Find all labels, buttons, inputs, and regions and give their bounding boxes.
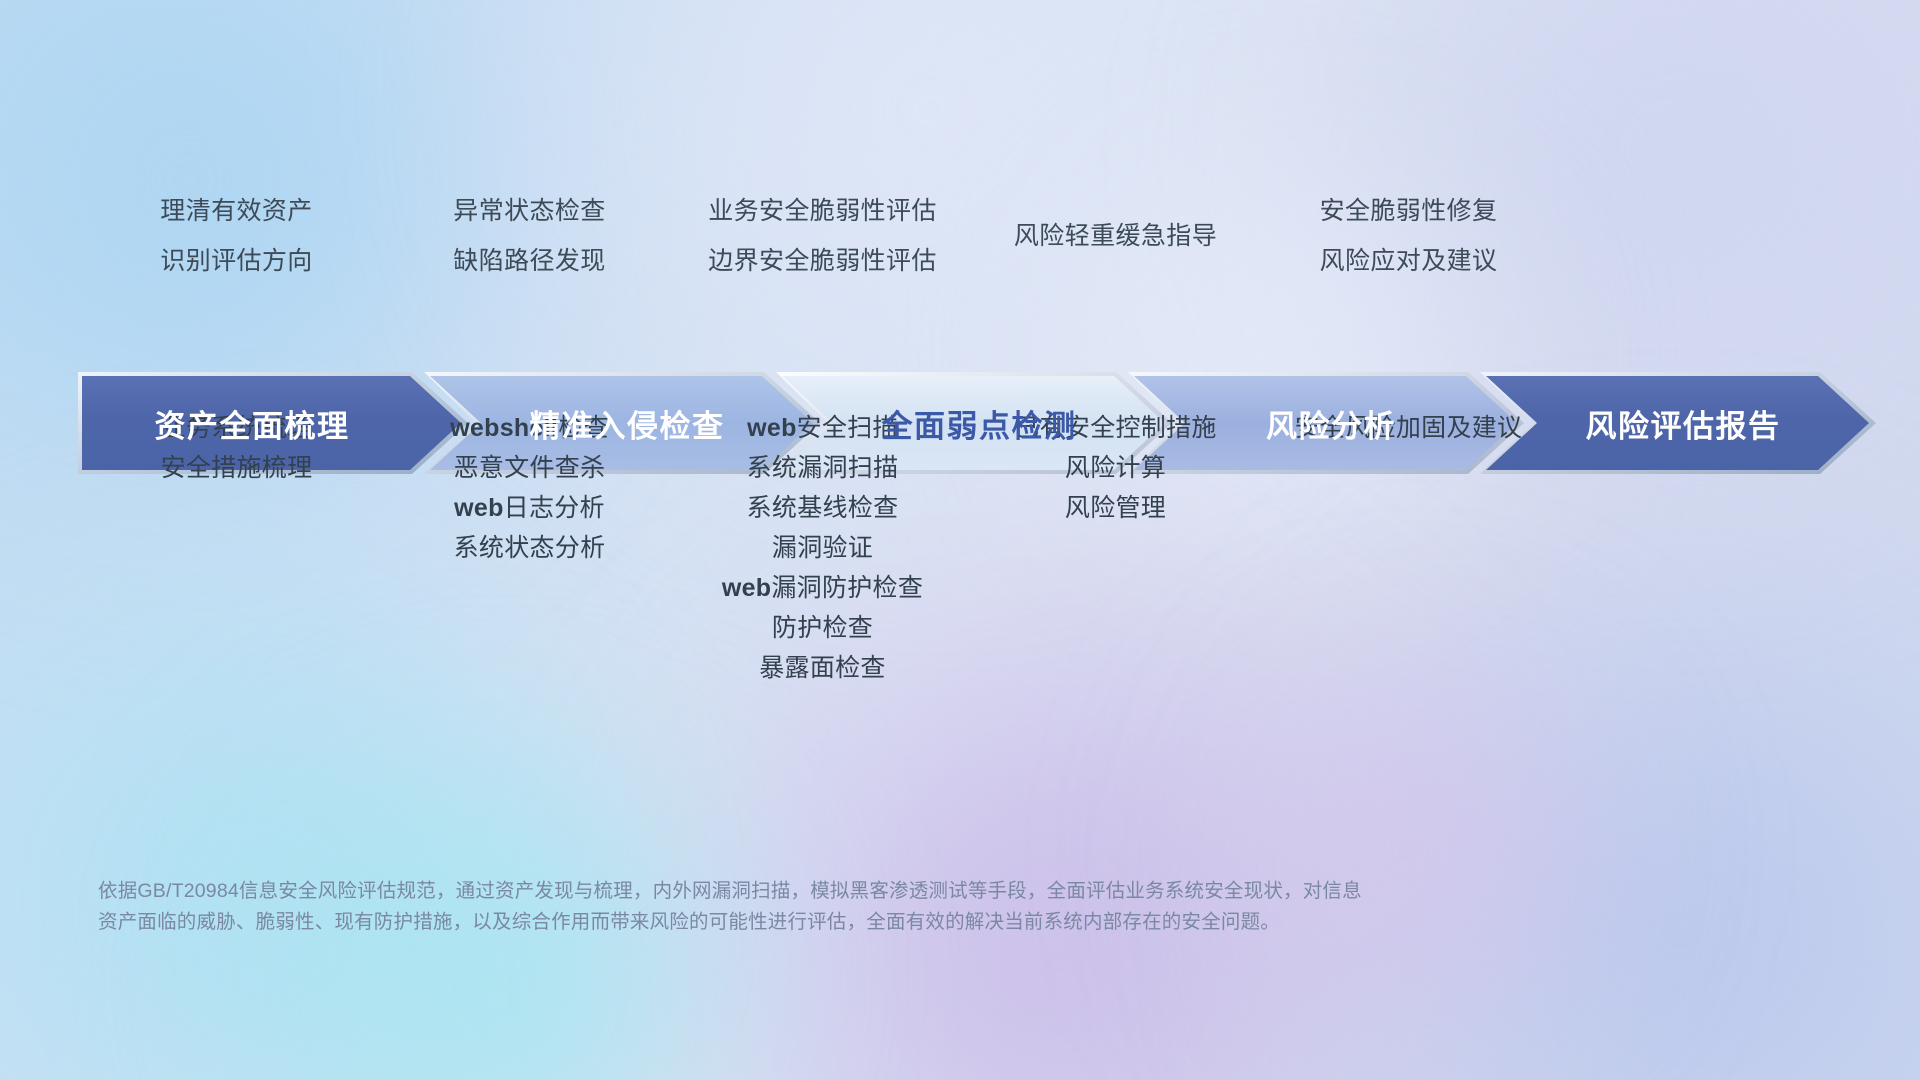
stage-top-label: 识别评估方向 <box>90 236 383 286</box>
list-item: 防护检查 <box>676 608 969 648</box>
stage-top-labels-row: 理清有效资产 识别评估方向 异常状态检查 缺陷路径发现 业务安全脆弱性评估 边界… <box>90 186 1840 286</box>
stage-top-label: 风险应对及建议 <box>1262 236 1555 286</box>
chevron-label: 风险分析 <box>1260 401 1396 446</box>
stage-3-detail-list: web安全扫描 系统漏洞扫描 系统基线检查 漏洞验证 web漏洞防护检查 防护检… <box>676 408 969 688</box>
stage-5-top-labels: 安全脆弱性修复 风险应对及建议 <box>1262 186 1555 286</box>
stage-top-label: 风险轻重缓急指导 <box>969 186 1262 286</box>
chevron-label: 精准入侵检查 <box>524 401 725 446</box>
list-item-rest: 漏洞防护检查 <box>771 574 923 602</box>
stage-top-label: 理清有效资产 <box>90 186 383 236</box>
list-item: web漏洞防护检查 <box>676 568 969 608</box>
footer-line-2: 资产面临的威胁、脆弱性、现有防护措施，以及综合作用而带来风险的可能性进行评估，全… <box>98 907 1628 938</box>
footer-line-1: 依据GB/T20984信息安全风险评估规范，通过资产发现与梳理，内外网漏洞扫描，… <box>98 876 1628 907</box>
list-item: 安全措施梳理 <box>90 448 383 488</box>
stage-5-detail-list: 安全风险加固及建议 <box>1262 408 1555 688</box>
stage-top-label: 边界安全脆弱性评估 <box>676 236 969 286</box>
stage-1-detail-list: 业务系统梳理 安全措施梳理 <box>90 408 383 688</box>
stage-top-label: 异常状态检查 <box>383 186 676 236</box>
list-item: 漏洞验证 <box>676 528 969 568</box>
list-item: 暴露面检查 <box>676 648 969 688</box>
list-item: web日志分析 <box>383 488 676 528</box>
stage-2-detail-list: webshell检查 恶意文件查杀 web日志分析 系统状态分析 <box>383 408 676 688</box>
list-item: 系统状态分析 <box>383 528 676 568</box>
chevron-label: 资产全面梳理 <box>149 401 396 446</box>
list-item-rest: 日志分析 <box>504 494 605 522</box>
list-item: 系统基线检查 <box>676 488 969 528</box>
list-item: 系统漏洞扫描 <box>676 448 969 488</box>
stage-top-label: 业务安全脆弱性评估 <box>676 186 969 236</box>
list-item: 风险计算 <box>969 448 1262 488</box>
stage-detail-lists-row: 业务系统梳理 安全措施梳理 webshell检查 恶意文件查杀 web日志分析 … <box>90 408 1840 688</box>
footer-description: 依据GB/T20984信息安全风险评估规范，通过资产发现与梳理，内外网漏洞扫描，… <box>98 876 1628 938</box>
list-item-bold: web <box>747 414 797 442</box>
stage-2-top-labels: 异常状态检查 缺陷路径发现 <box>383 186 676 286</box>
chevron-label: 全面弱点检测 <box>876 401 1077 446</box>
stage-1-top-labels: 理清有效资产 识别评估方向 <box>90 186 383 286</box>
list-item: 恶意文件查杀 <box>383 448 676 488</box>
stage-4-detail-list: 已有安全控制措施 风险计算 风险管理 <box>969 408 1262 688</box>
stage-3-top-labels: 业务安全脆弱性评估 边界安全脆弱性评估 <box>676 186 969 286</box>
list-item-bold: web <box>454 494 504 522</box>
list-item: 风险管理 <box>969 488 1262 528</box>
chevron-label: 风险评估报告 <box>1580 401 1781 446</box>
stage-top-label: 缺陷路径发现 <box>383 236 676 286</box>
stage-top-label: 安全脆弱性修复 <box>1262 186 1555 236</box>
stage-4-top-labels: 风险轻重缓急指导 <box>969 186 1262 286</box>
list-item-bold: web <box>722 574 772 602</box>
